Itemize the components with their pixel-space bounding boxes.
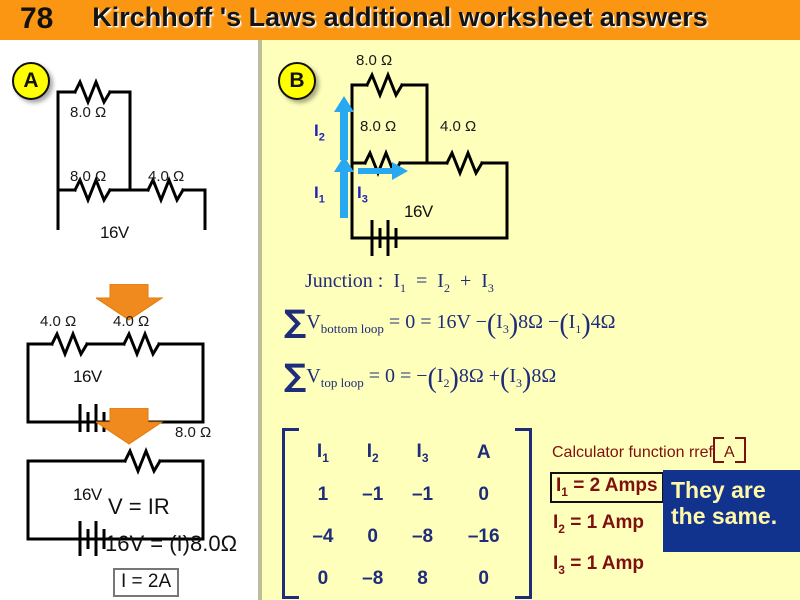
callout-line1: They are <box>671 477 766 503</box>
matrix-cell: –16 <box>447 516 520 558</box>
label-r-mid-left-b: 8.0 Ω <box>360 118 396 135</box>
circuit-diagram-b <box>262 50 562 265</box>
page-title: Kirchhoff 's Laws additional worksheet a… <box>0 2 800 33</box>
matrix-cell: 0 <box>348 516 398 558</box>
matrix-header-cell: A <box>447 432 520 474</box>
callout-they-are-the-same: They are the same. <box>663 470 800 552</box>
answer-i1-box: I1 = 2 Amps <box>550 472 664 503</box>
bracket-right-small <box>735 437 746 463</box>
formula-16v: 16V = (I)8.0Ω <box>105 531 237 557</box>
label-r-top-a1: 8.0 Ω <box>70 104 106 121</box>
current-label-i3: I3 <box>357 183 368 205</box>
label-r-right-a2: 4.0 Ω <box>113 313 149 330</box>
label-r-mid-left-a1: 8.0 Ω <box>70 168 106 185</box>
equation-top-loop: ∑Vtop loop = 0 = −(I2)8Ω +(I3)8Ω <box>284 358 556 395</box>
label-r-top-b: 8.0 Ω <box>356 52 392 69</box>
matrix-cell: 0 <box>298 558 348 600</box>
matrix-header-cell: I3 <box>398 432 448 474</box>
label-battery-b: 16V <box>404 202 433 222</box>
sigma-symbol-bottom: ∑ <box>284 304 306 340</box>
left-panel: A <box>0 40 258 600</box>
equation-bottom-loop: ∑Vbottom loop = 0 = 16V −(I3)8Ω −(I1)4Ω <box>284 304 616 341</box>
answer-current-boxed: I = 2A <box>113 568 179 597</box>
matrix-cell: –8 <box>348 558 398 600</box>
label-r-mid-right-a1: 4.0 Ω <box>148 168 184 185</box>
matrix-row: 0 –8 8 0 <box>298 558 520 600</box>
calculator-note-text: Calculator function rref <box>552 444 713 461</box>
circuit-a1-svg <box>0 60 258 230</box>
matrix-cell: 1 <box>298 474 348 516</box>
matrix-header-row: I1 I2 I3 A <box>298 432 520 474</box>
current-label-i2: I2 <box>314 121 325 143</box>
callout-text: They are the same. <box>663 470 800 530</box>
calculator-note-matrix-name: A <box>724 444 735 461</box>
matrix-cell: 8 <box>398 558 448 600</box>
callout-line2: the same. <box>671 503 777 529</box>
matrix-cell: –8 <box>398 516 448 558</box>
circuit-diagram-a1 <box>0 60 258 230</box>
matrix-cell: –1 <box>398 474 448 516</box>
label-r-mid-right-b: 4.0 Ω <box>440 118 476 135</box>
matrix-cell: –1 <box>348 474 398 516</box>
current-label-i1: I1 <box>314 183 325 205</box>
label-battery-a2: 16V <box>73 367 102 387</box>
equation-junction: Junction : I1 = I2 + I3 <box>305 270 494 296</box>
label-r-top-a3: 8.0 Ω <box>175 424 211 441</box>
calculator-note: Calculator function rrefA <box>552 437 746 463</box>
formula-v-ir: V = IR <box>108 494 170 520</box>
circuit-b-svg <box>262 50 562 265</box>
sigma-symbol-top: ∑ <box>284 358 306 394</box>
matrix-cell: –4 <box>298 516 348 558</box>
answer-i1: I1 = 2 Amps <box>556 475 658 496</box>
label-battery-a1: 16V <box>100 223 129 243</box>
matrix-row: –4 0 –8 –16 <box>298 516 520 558</box>
bracket-left-small <box>713 437 724 463</box>
answer-i3: I3 = 1 Amp <box>553 553 644 577</box>
matrix-cell: 0 <box>447 474 520 516</box>
matrix-cell: 0 <box>447 558 520 600</box>
matrix-table: I1 I2 I3 A 1 –1 –1 0 –4 0 –8 –16 0 –8 8 … <box>298 432 520 600</box>
matrix-header-cell: I2 <box>348 432 398 474</box>
answer-i2: I2 = 1 Amp <box>553 512 644 536</box>
augmented-matrix: I1 I2 I3 A 1 –1 –1 0 –4 0 –8 –16 0 –8 8 … <box>282 428 532 593</box>
matrix-row: 1 –1 –1 0 <box>298 474 520 516</box>
label-r-left-a2: 4.0 Ω <box>40 313 76 330</box>
label-battery-a3: 16V <box>73 485 102 505</box>
junction-label: Junction : <box>305 270 383 292</box>
matrix-bracket-left <box>282 428 299 599</box>
header-bar: 78 Kirchhoff 's Laws additional workshee… <box>0 0 800 40</box>
matrix-header-cell: I1 <box>298 432 348 474</box>
